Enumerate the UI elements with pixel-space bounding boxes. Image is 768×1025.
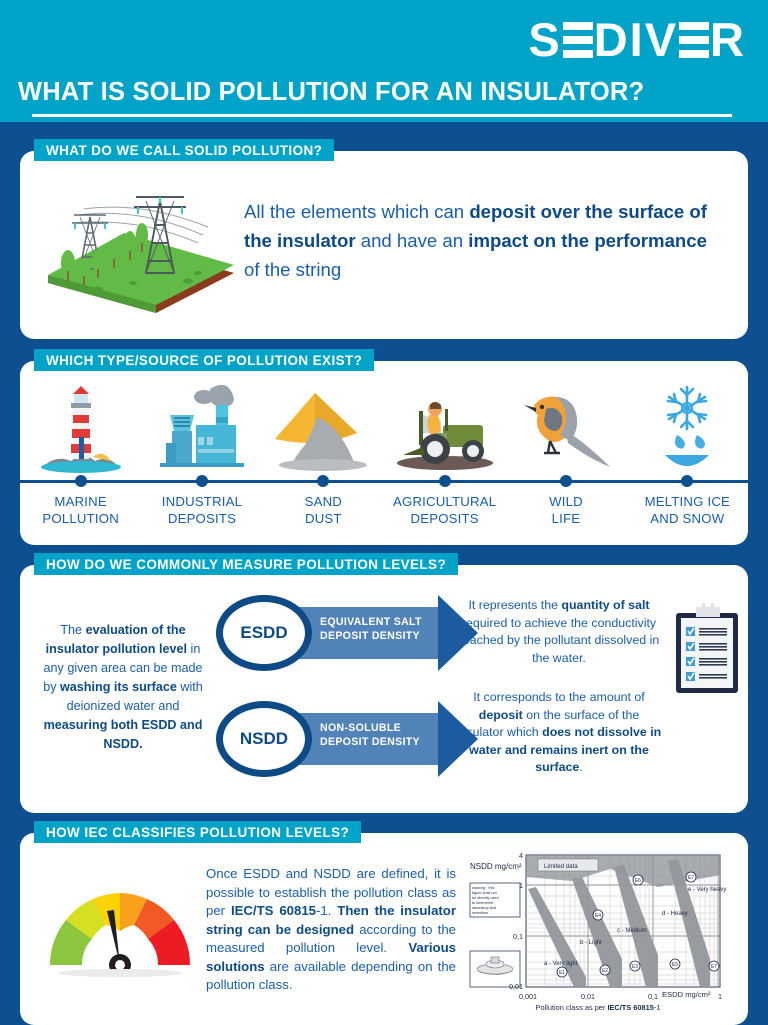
chart-xtick-01: 0,1 [648,992,658,1001]
speedometer-gauge-icon [40,873,200,983]
s1-text-c: and have an [356,230,469,251]
icon-cell [627,375,748,477]
chart-zone-e: e - Very heavy [688,887,726,893]
nsdd-desc-e: . [579,760,582,774]
esdd-expansion-line2: DEPOSIT DENSITY [320,629,440,643]
pollution-icon-row [20,375,748,477]
pollution-label-row: MARINE POLLUTION INDUSTRIAL DEPOSITS SAN… [20,493,748,527]
snowflake-drop-icon [649,381,725,477]
esdd-desc-c: required to achieve the conductivity rea… [459,616,659,665]
label-line2: POLLUTION [20,510,141,527]
label-line2: AND SNOW [627,510,748,527]
nsdd-badge: NSDD [216,701,312,777]
chart-marker-E5: E5 [672,962,678,968]
chart-xtick-0001: 0,001 [519,992,537,1001]
nsdd-description: It corresponds to the amount of deposit … [454,689,664,777]
section1-body: All the elements which can deposit over … [20,151,748,339]
label-line2: LIFE [505,510,626,527]
tractor-icon [389,381,501,477]
chart-zone-b: b - Light [580,940,602,946]
esdd-expansion-line1: EQUIVALENT SALT [320,615,440,629]
chart-zone-d: d - Heavy [662,911,688,917]
bird-icon [516,381,616,477]
page-title: WHAT IS SOLID POLLUTION FOR AN INSULATOR… [18,78,644,107]
factory-icon [152,381,252,477]
nsdd-desc-a: It corresponds to the amount of [473,690,645,704]
section3-left-text: The evaluation of the insulator pollutio… [38,621,208,754]
section1-heading: WHAT DO WE CALL SOLID POLLUTION? [34,139,334,161]
page-header: S DIV R WHAT IS SOLID POLLUTION FOR AN I… [0,0,768,122]
esdd-expansion: EQUIVALENT SALT DEPOSIT DENSITY [320,615,440,643]
dot-cell [141,475,262,487]
esdd-desc-b: quantity of salt [561,598,649,612]
dot-cell [384,475,505,487]
s4-text-c: -1. [316,903,331,918]
label-line1: MELTING ICE [627,493,748,510]
label-line1: INDUSTRIAL [141,493,262,510]
chart-ylabel: NSDD mg/cm² [470,862,522,871]
label-line1: WILD [505,493,626,510]
logo-text-r: R [710,12,746,67]
s1-text-a: All the elements which can [244,201,469,222]
transmission-tower-landscape-icon [38,177,238,317]
chart-marker-E1: E1 [559,970,565,976]
chart-caption-b: IEC/TS 60815 [607,1003,653,1012]
nsdd-expansion: NON-SOLUBLE DEPOSIT DENSITY [320,721,440,749]
title-underline [32,114,732,117]
esdd-description: It represents the quantity of salt requi… [454,597,664,667]
dot-cell [505,475,626,487]
timeline-dot [317,475,329,487]
dot-cell [627,475,748,487]
icon-cell [20,375,141,477]
timeline-dot [196,475,208,487]
chart-zone-c: c - Medium [617,928,647,934]
logo-bar-e-2 [679,21,709,59]
pollution-label-wildlife: WILD LIFE [505,493,626,527]
label-line1: SAND [263,493,384,510]
pollution-label-industrial: INDUSTRIAL DEPOSITS [141,493,262,527]
pollution-label-agricultural: AGRICULTURAL DEPOSITS [384,493,505,527]
s4-text-b: IEC/TS 60815 [231,903,316,918]
clipboard-checklist-icon [672,603,744,695]
chart-xtick-1: 1 [718,992,722,1001]
chart-caption: Pollution class as per IEC/TS 60815-1 [462,1003,734,1012]
pollution-label-sand: SAND DUST [263,493,384,527]
timeline-dot [439,475,451,487]
lighthouse-icon [37,381,125,477]
chart-zone-a: a - Very light [544,961,578,967]
chart-marker-E7: E7 [688,875,694,881]
label-line2: DEPOSITS [384,510,505,527]
chart-marker-E4: E4 [595,913,601,919]
section4-text: Once ESDD and NSDD are defined, it is po… [206,865,456,995]
icon-cell [141,375,262,477]
iec-pollution-class-chart: NSDD mg/cm² warning : this figure shall … [462,847,734,1017]
s1-text-e: of the string [244,259,341,280]
chart-ytick-001: 0,01 [509,982,523,991]
chart-xlabel: ESDD mg/cm² [662,990,711,999]
s3-left-f: measuring both ESDD and NSDD. [44,718,203,751]
chart-xtick-001: 0,01 [581,992,595,1001]
nsdd-desc-b: deposit [479,708,523,722]
chart-marker-E6: E6 [635,878,641,884]
icon-cell [505,375,626,477]
esdd-badge: ESDD [216,595,312,671]
chart-caption-a: Pollution class as per [536,1003,608,1012]
logo-text-div: DIV [594,12,678,67]
chart-annotation-limited-data: Limited data [544,863,578,870]
nsdd-arrow-block: NSDD NON-SOLUBLE DEPOSIT DENSITY [216,701,486,777]
sediver-logo: S DIV R [528,12,746,67]
sand-pile-icon [269,381,377,477]
pollution-label-melting-ice: MELTING ICE AND SNOW [627,493,748,527]
icon-cell [384,375,505,477]
chart-ytick-4: 4 [519,851,523,860]
chart-marker-E3: E3 [632,964,638,970]
timeline-dot [560,475,572,487]
chart-ytick-01: 0,1 [513,932,523,941]
label-line2: DEPOSITS [141,510,262,527]
label-line1: MARINE [20,493,141,510]
label-line2: DUST [263,510,384,527]
chart-ytick-1: 1 [519,881,523,890]
section3-body: The evaluation of the insulator pollutio… [20,565,748,813]
section2-heading: WHICH TYPE/SOURCE OF POLLUTION EXIST? [34,349,374,371]
chart-marker-E2: E2 [602,968,608,974]
section3-heading: HOW DO WE COMMONLY MEASURE POLLUTION LEV… [34,553,458,575]
esdd-arrow-block: ESDD EQUIVALENT SALT DEPOSIT DENSITY [216,595,486,671]
dot-cell [20,475,141,487]
dot-cell [263,475,384,487]
esdd-desc-a: It represents the [468,598,561,612]
logo-bar-e-1 [563,21,593,59]
label-line1: AGRICULTURAL [384,493,505,510]
pollution-label-marine: MARINE POLLUTION [20,493,141,527]
chart-marker-E7b: E7 [711,964,717,970]
nsdd-expansion-line1: NON-SOLUBLE [320,721,440,735]
section4-heading: HOW IEC CLASSIFIES POLLUTION LEVELS? [34,821,361,843]
timeline-dots [20,475,748,487]
s3-left-a: The [60,623,85,637]
nsdd-expansion-line2: DEPOSIT DENSITY [320,735,440,749]
section2-body: MARINE POLLUTION INDUSTRIAL DEPOSITS SAN… [20,361,748,545]
s1-text-d: impact on the performance [468,230,707,251]
s3-left-d: washing its surface [60,680,177,694]
logo-text-s: S [528,12,561,67]
section4-body: Once ESDD and NSDD are defined, it is po… [20,833,748,1025]
timeline-dot [75,475,87,487]
icon-cell [263,375,384,477]
timeline-dot [681,475,693,487]
section1-statement: All the elements which can deposit over … [244,197,724,284]
chart-caption-c: -1 [654,1003,661,1012]
